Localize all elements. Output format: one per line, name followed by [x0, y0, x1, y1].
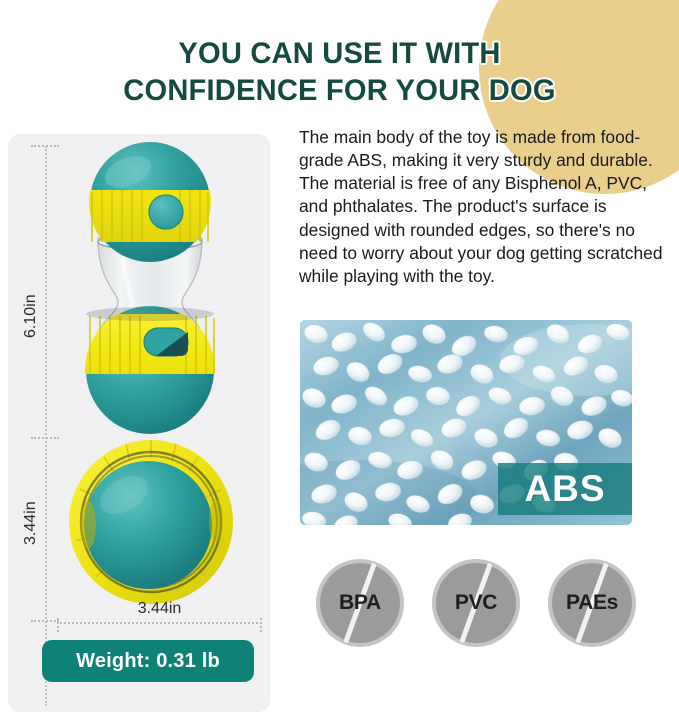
no-paes-badge: PAEs: [548, 559, 636, 647]
vertical-dimension-line: [45, 146, 47, 706]
dimension-tick-top: [31, 145, 59, 147]
badge-label: PAEs: [566, 591, 618, 615]
dimension-tick-middle: [31, 437, 59, 439]
page-title-line-2: CONFIDENCE FOR YOUR DOG: [24, 73, 655, 110]
no-pvc-badge: PVC: [432, 559, 520, 647]
width-dimension: 3.44in: [57, 600, 262, 634]
product-image-toy-side-view: [62, 142, 238, 434]
dimension-label-height-upper: 6.10in: [22, 294, 40, 338]
page-title-line-1: YOU CAN USE IT WITH: [24, 36, 655, 73]
page-title: YOU CAN USE IT WITH CONFIDENCE FOR YOUR …: [24, 36, 655, 109]
abs-label: ABS: [498, 463, 632, 515]
dimension-label-height-lower: 3.44in: [22, 501, 40, 545]
product-image-toy-bottom-view: [66, 437, 236, 607]
dimension-label-width: 3.44in: [57, 600, 262, 618]
dimension-tick-bottom: [31, 620, 59, 622]
weight-badge: Weight: 0.31 lb: [42, 640, 254, 682]
free-of-badges-row: BPA PVC PAEs: [316, 551, 636, 655]
no-bpa-badge: BPA: [316, 559, 404, 647]
abs-material-image: ABS: [300, 320, 632, 525]
badge-label: BPA: [339, 591, 381, 615]
infographic-page: YOU CAN USE IT WITH CONFIDENCE FOR YOUR …: [0, 0, 679, 715]
badge-label: PVC: [455, 591, 497, 615]
body-paragraph: The main body of the toy is made from fo…: [299, 126, 669, 288]
horizontal-dimension-line: [57, 622, 262, 634]
